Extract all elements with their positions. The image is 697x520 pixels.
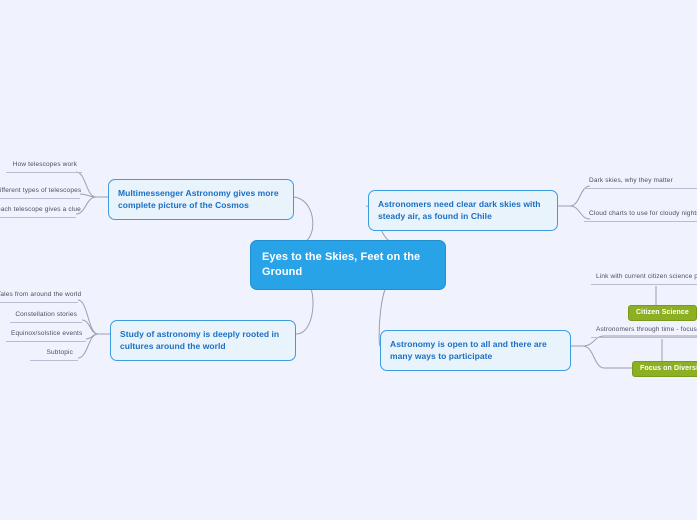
leaf-astronomers-through-time[interactable]: Astronomers through time - focus o — [591, 324, 697, 338]
mindmap-canvas: Eyes to the Skies, Feet on the Ground Mu… — [0, 0, 697, 520]
leaf-equinox-solstice-events[interactable]: Equinox/solstice events — [6, 328, 86, 342]
branch-node-multimessenger[interactable]: Multimessenger Astronomy gives more comp… — [108, 179, 294, 220]
badge-citizen-science[interactable]: Citizen Science — [628, 305, 697, 321]
leaf-different-types-of-telescopes[interactable]: Different types of telescopes — [0, 185, 80, 199]
branch-node-dark-skies[interactable]: Astronomers need clear dark skies with s… — [368, 190, 558, 231]
leaf-subtopic[interactable]: Subtopic — [30, 347, 78, 361]
leaf-tales-from-around-the-world[interactable]: Tales from around the world — [0, 289, 78, 303]
branch-node-cultures[interactable]: Study of astronomy is deeply rooted in c… — [110, 320, 296, 361]
leaf-how-telescopes-work[interactable]: How telescopes work — [6, 159, 82, 173]
leaf-dark-skies-why-they-matter[interactable]: Dark skies, why they matter — [584, 175, 697, 189]
leaf-each-telescope-gives-a-clue[interactable]: each telescope gives a clue — [0, 204, 76, 218]
leaf-link-citizen-science-projects[interactable]: Link with current citizen science pro — [591, 271, 697, 285]
branch-node-participate[interactable]: Astronomy is open to all and there are m… — [380, 330, 571, 371]
badge-focus-on-diversity[interactable]: Focus on Diversity — [632, 361, 697, 377]
root-node[interactable]: Eyes to the Skies, Feet on the Ground — [250, 240, 446, 290]
leaf-constellation-stories[interactable]: Constellation stories — [10, 309, 82, 323]
leaf-cloud-charts-cloudy-nights[interactable]: Cloud charts to use for cloudy nights? — [584, 208, 697, 222]
